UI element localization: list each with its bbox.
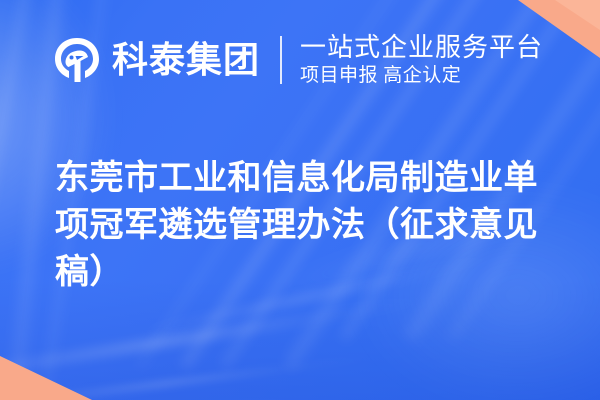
- tagline-main: 一站式企业服务平台: [300, 33, 543, 61]
- salmon-corner-wedge-bottom-left: [0, 348, 92, 400]
- brand-name: 科泰集团: [112, 42, 260, 78]
- page-title: 东莞市工业和信息化局制造业单项冠军遴选管理办法（征求意见稿）: [55, 155, 549, 296]
- tagline-block: 一站式企业服务平台 项目申报 高企认定: [300, 33, 543, 88]
- banner-header: 科泰集团 一站式企业服务平台 项目申报 高企认定: [0, 24, 600, 96]
- promo-banner: 科泰集团 一站式企业服务平台 项目申报 高企认定 东莞市工业和信息化局制造业单项…: [0, 0, 600, 400]
- tagline-sub: 项目申报 高企认定: [300, 64, 543, 88]
- ketai-circular-emblem-icon: [52, 35, 102, 85]
- header-divider: [280, 36, 282, 84]
